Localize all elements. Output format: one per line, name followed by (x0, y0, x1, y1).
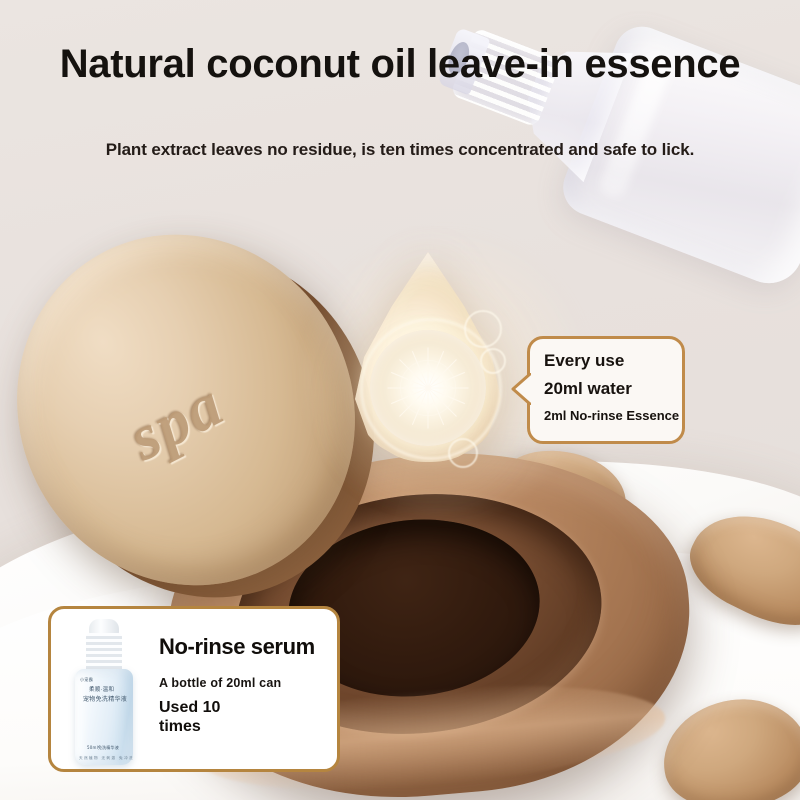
droplet-bubble-2 (480, 348, 506, 374)
serum-claim-line-2: 宠物免洗精华液 (83, 694, 127, 703)
serum-footer-text: 天然植物 无刺激 免冲洗 (79, 756, 134, 761)
card-subtitle: A bottle of 20ml can (159, 676, 329, 690)
card-product-figure: 小宠霸 柔顺·温和 宠物免洗精华液 50ml免洗精华液 天然植物 无刺激 免冲洗 (51, 609, 155, 769)
callout-line-1: Every use (544, 350, 670, 371)
callout-line-3: 2ml No-rinse Essence (544, 408, 670, 424)
sunburst-mandala-icon (382, 342, 474, 434)
card-usage-count: Used 10 times (159, 699, 329, 737)
golden-essence-droplet (352, 252, 504, 462)
card-title: No-rinse serum (159, 635, 329, 659)
droplet-bubble-1 (464, 310, 502, 348)
serum-bottle-illustration: 小宠霸 柔顺·温和 宠物免洗精华液 50ml免洗精华液 天然植物 无刺激 免冲洗 (69, 619, 139, 765)
subheadline: Plant extract leaves no residue, is ten … (0, 140, 800, 160)
serum-brand-text: 小宠霸 (80, 677, 93, 683)
droplet-bubble-3 (448, 438, 478, 468)
product-info-card: 小宠霸 柔顺·温和 宠物免洗精华液 50ml免洗精华液 天然植物 无刺激 免冲洗… (48, 606, 340, 772)
serum-claim-line-1: 柔顺·温和 (89, 685, 114, 693)
callout-line-2: 20ml water (544, 378, 670, 399)
headline: Natural coconut oil leave-in essence (0, 42, 800, 87)
serum-swirl-graphic-icon (89, 765, 131, 772)
serum-volume-note: 50ml免洗精华液 (87, 745, 119, 751)
serum-bottle-neck (86, 633, 122, 673)
product-promo-image: spa (0, 0, 800, 800)
callout-tail-icon (511, 373, 531, 405)
card-text-block: No-rinse serum A bottle of 20ml can Used… (155, 609, 337, 769)
usage-callout-box: Every use 20ml water 2ml No-rinse Essenc… (527, 336, 685, 444)
